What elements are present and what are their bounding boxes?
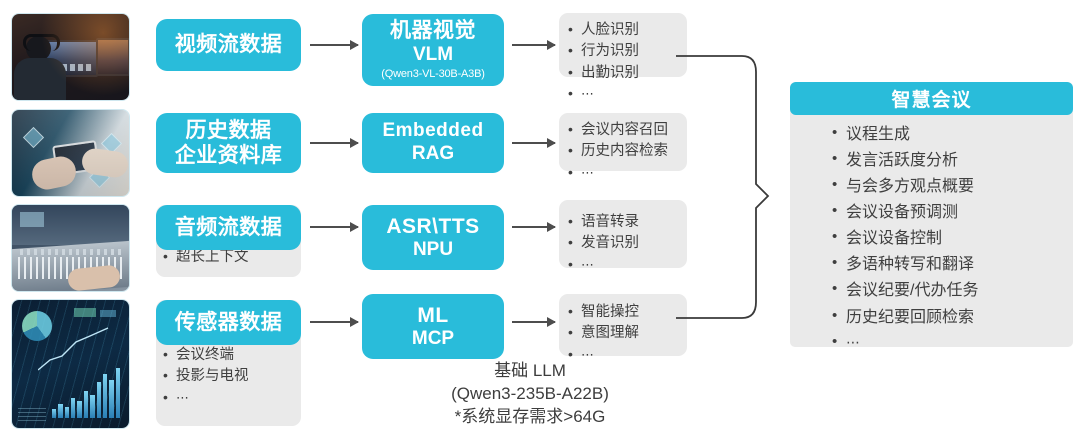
engine-sub: VLM [413,44,453,67]
list-item: 发音识别 [567,233,687,254]
aggregation-bracket [676,34,786,329]
list-item: 投影与电视 [162,366,301,387]
source-label: 视频流数据 [175,32,283,57]
engine-box-ml-mcp[interactable]: ML MCP [362,294,504,359]
list-item: ⋯ [832,331,1073,354]
engine-box-rag[interactable]: Embedded RAG [362,113,504,173]
list-item: 人脸识别 [567,20,687,41]
output-box-sensor: 智能操控 意图理解 ⋯ [559,294,687,356]
list-item: 出勤识别 [567,63,687,84]
list-item: 行为识别 [567,41,687,62]
caption-line-2: (Qwen3-235B-A22B) [405,382,655,405]
result-panel-title: 智慧会议 [790,82,1073,115]
engine-title: ML [417,303,448,328]
list-item: ⋯ [567,84,687,103]
engine-box-vlm[interactable]: 机器视觉 VLM (Qwen3-VL-30B-A3B) [362,14,504,86]
output-box-rag: 会议内容召回 历史内容检索 ⋯ [559,113,687,171]
thumbnail-video-stream [12,14,129,100]
list-item: 会议纪要/代办任务 [832,278,1073,304]
arrow-vlm-to-outputs [512,44,555,46]
base-llm-caption: 基础 LLM (Qwen3-235B-A22B) *系统显存需求>64G [405,359,655,428]
arrow-audio-to-asr [310,226,358,228]
list-item: ⋯ [162,388,301,407]
thumbnail-sensor-data [12,300,129,428]
list-item: 发言活跃度分析 [832,148,1073,174]
arrow-rag-to-outputs [512,142,555,144]
source-box-historical-data[interactable]: 历史数据 企业资料库 [156,113,301,173]
source-label: 传感器数据 [175,310,283,335]
arrow-ml-to-outputs [512,321,555,323]
list-item: 会议设备预调测 [832,200,1073,226]
list-item: 议程生成 [832,122,1073,148]
output-box-audio: 语音转录 发音识别 ⋯ [559,200,687,268]
list-item: ⋯ [567,163,687,182]
source-label-line2: 企业资料库 [175,143,283,168]
engine-sub: RAG [412,143,454,166]
arrow-sensor-to-ml [310,321,358,323]
diagram-canvas: 视频流数据 机器视觉 VLM (Qwen3-VL-30B-A3B) 人脸识别 行… [0,0,1083,445]
engine-title: ASR\TTS [386,214,479,239]
result-panel: 议程生成 发言活跃度分析 与会多方观点概要 会议设备预调测 会议设备控制 多语种… [790,82,1073,347]
list-item: 会议内容召回 [567,120,687,141]
list-item: 会议设备控制 [832,226,1073,252]
engine-sub: NPU [413,239,453,262]
list-item: 历史纪要回顾检索 [832,305,1073,331]
arrow-asr-to-outputs [512,226,555,228]
list-item: 智能操控 [567,302,687,323]
source-box-video-stream[interactable]: 视频流数据 [156,19,301,71]
thumbnail-historical-data [12,110,129,196]
list-item: 与会多方观点概要 [832,174,1073,200]
source-label-line1: 历史数据 [186,118,272,143]
list-item: 语音转录 [567,212,687,233]
engine-box-asr-tts[interactable]: ASR\TTS NPU [362,205,504,270]
thumbnail-audio-stream [12,205,129,291]
output-box-vision: 人脸识别 行为识别 出勤识别 ⋯ [559,13,687,77]
engine-sub: MCP [412,328,454,351]
source-label: 音频流数据 [175,215,283,240]
list-item: 会议终端 [162,345,301,366]
caption-line-1: 基础 LLM [405,359,655,382]
engine-model: (Qwen3-VL-30B-A3B) [381,68,484,81]
list-item: 历史内容检索 [567,141,687,162]
source-box-sensor-data[interactable]: 传感器数据 [156,300,301,345]
arrow-history-to-rag [310,142,358,144]
list-item: ⋯ [567,255,687,274]
engine-title: 机器视觉 [390,18,476,43]
list-item: 意图理解 [567,323,687,344]
list-item: 超长上下文 [162,247,301,268]
arrow-video-to-vlm [310,44,358,46]
engine-title: Embedded [382,120,483,143]
source-box-audio-stream[interactable]: 音频流数据 [156,205,301,250]
caption-line-3: *系统显存需求>64G [405,405,655,428]
list-item: 多语种转写和翻译 [832,252,1073,278]
